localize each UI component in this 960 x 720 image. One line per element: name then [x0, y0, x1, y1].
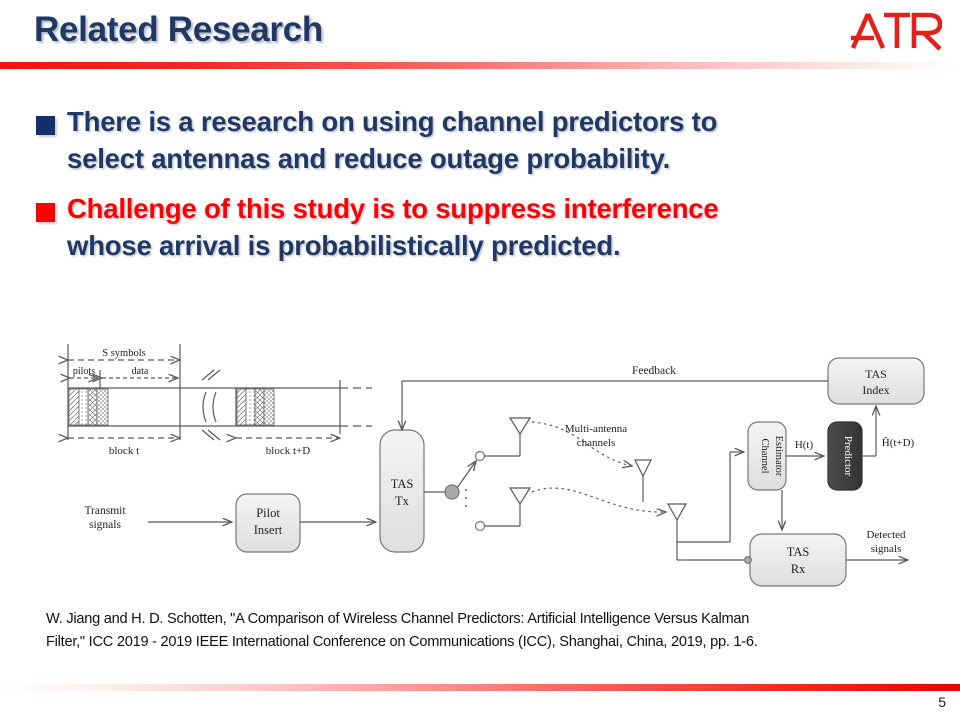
label-transmit-signals-line2: signals	[89, 519, 121, 531]
label-feedback: Feedback	[632, 365, 676, 377]
label-transmit-signals-line1: Transmit	[84, 505, 126, 517]
block-predictor-label: Predictor	[842, 436, 854, 477]
bullet-line: whose arrival is probabilistically predi…	[67, 228, 718, 265]
label-detected-signals-line1: Detected	[866, 529, 906, 541]
block-tas-tx-line1: TAS	[391, 477, 414, 491]
bullet-line: There is a research on using channel pre…	[67, 104, 717, 141]
citation-line: Filter," ICC 2019 - 2019 IEEE Internatio…	[46, 631, 916, 654]
citation-text: W. Jiang and H. D. Schotten, "A Comparis…	[46, 608, 916, 653]
atr-logo-icon	[850, 8, 942, 54]
footer-divider-rule	[0, 684, 960, 691]
header-divider-rule	[0, 62, 960, 69]
label-h-hat-t-plus-d: Ĥ(t+D)	[882, 437, 915, 449]
label-multi-antenna-line2: channels	[577, 437, 615, 449]
block-tas-rx-line1: TAS	[787, 545, 810, 559]
bullet-text: Challenge of this study is to suppress i…	[67, 191, 718, 264]
label-multi-antenna-line1: Multi-antenna	[565, 423, 627, 435]
bullet-square-marker	[36, 203, 55, 222]
block-pilot-insert-line2: Insert	[254, 523, 283, 537]
frame-label-data: data	[132, 366, 149, 377]
block-diagram-figure: S symbols pilots data block t	[40, 330, 930, 600]
label-detected-signals-line2: signals	[871, 543, 902, 555]
slide-root: Related Research There is a research on …	[0, 0, 960, 720]
list-item: Challenge of this study is to suppress i…	[36, 191, 936, 264]
frame-label-s-symbols: S symbols	[102, 348, 145, 359]
frame-label-block-t: block t	[109, 445, 139, 457]
bullet-list: There is a research on using channel pre…	[36, 104, 936, 278]
block-tas-tx-line2: Tx	[395, 494, 410, 508]
block-channel-estimator-line1: Channel	[759, 439, 770, 474]
label-h-t: H(t)	[795, 439, 814, 451]
bullet-text: There is a research on using channel pre…	[67, 104, 717, 177]
list-item: There is a research on using channel pre…	[36, 104, 936, 177]
bullet-line: select antennas and reduce outage probab…	[67, 141, 717, 178]
page-title: Related Research	[34, 10, 323, 50]
page-number: 5	[938, 694, 946, 710]
block-tas-index-line2: Index	[862, 383, 889, 397]
block-tas-index-line1: TAS	[865, 367, 887, 381]
frame-label-block-tD: block t+D	[266, 445, 310, 457]
frame-label-pilots: pilots	[73, 366, 95, 377]
citation-line: W. Jiang and H. D. Schotten, "A Comparis…	[46, 608, 916, 631]
block-tas-rx-line2: Rx	[791, 562, 806, 576]
bullet-line: Challenge of this study is to suppress i…	[67, 191, 718, 228]
bullet-square-marker	[36, 116, 55, 135]
block-channel-estimator-line2: Estimator	[773, 436, 784, 477]
block-pilot-insert-line1: Pilot	[256, 506, 280, 520]
